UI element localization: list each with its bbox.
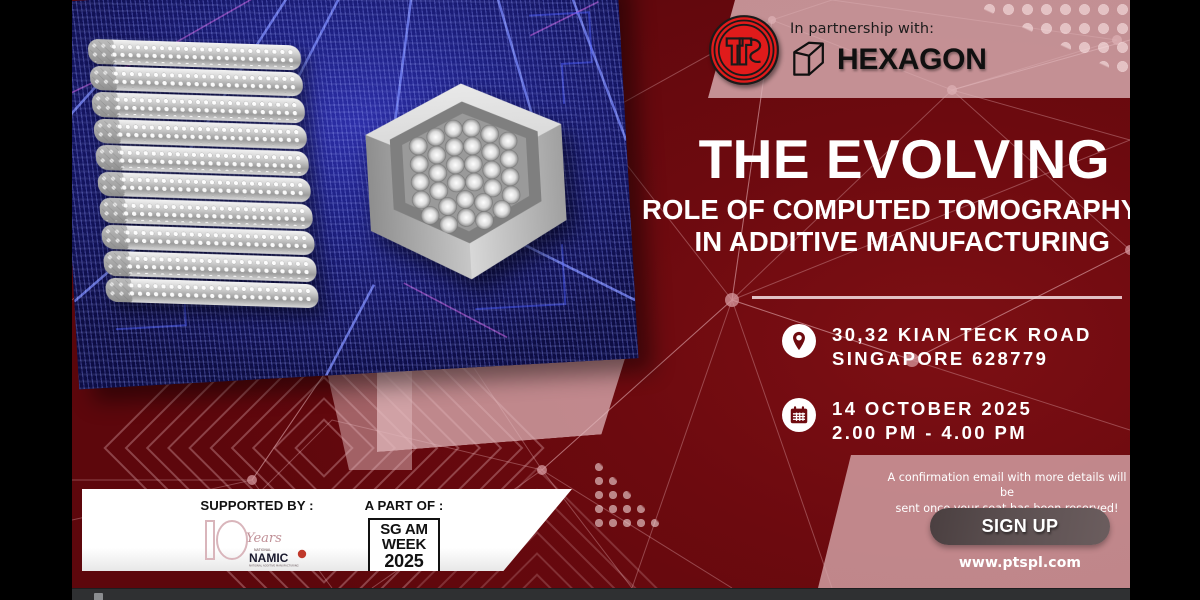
title-divider-rule (752, 296, 1122, 299)
sg-am-week-logo: SG AM WEEK 2025 (368, 518, 440, 574)
a-part-of-group: A PART OF : SG AM WEEK 2025 (348, 498, 460, 574)
sgam-year: 2025 (384, 552, 423, 570)
event-poster: In partnership with: HEXAGON (72, 0, 1130, 588)
pts-logo-icon (708, 14, 780, 86)
viewer-toolbar[interactable] (72, 588, 1130, 600)
sign-up-button[interactable]: SIGN UP (930, 508, 1110, 545)
poster-content-column: In partnership with: HEXAGON (642, 0, 1130, 588)
title-subtitle-line2: IN ADDITIVE MANUFACTURING (642, 226, 1110, 258)
sgam-line1: SG AM (380, 522, 428, 537)
title-subtitle-line1: ROLE OF COMPUTED TOMOGRAPHY (642, 194, 1110, 226)
location-pin-icon (782, 324, 816, 358)
namic-logo-icon: Years NATIONAL NAMIC NATIONAL ADDITIVE M… (198, 515, 316, 569)
supported-by-group: SUPPORTED BY : Years NATIONAL NAMIC (192, 498, 322, 569)
event-location-text: 30,32 KIAN TECK ROAD SINGAPORE 628779 (832, 322, 1092, 372)
hexagon-wordmark: HEXAGON (837, 43, 987, 77)
title-main: THE EVOLVING (642, 133, 1110, 187)
hexagon-lockup: HEXAGON (790, 40, 987, 80)
event-datetime-row: 14 OCTOBER 2025 2.00 PM - 4.00 PM (782, 396, 1130, 446)
location-line-2: SINGAPORE 628779 (832, 347, 1092, 371)
event-location-row: 30,32 KIAN TECK ROAD SINGAPORE 628779 (782, 322, 1130, 372)
hexagon-mark-icon (790, 40, 828, 80)
partner-text-group: In partnership with: HEXAGON (790, 21, 987, 80)
hero-image-3d-prints (72, 0, 638, 389)
poster-title-block: THE EVOLVING ROLE OF COMPUTED TOMOGRAPHY… (642, 133, 1130, 259)
calendar-icon (782, 398, 816, 432)
svg-text:NATIONAL ADDITIVE MANUFACTURIN: NATIONAL ADDITIVE MANUFACTURING (249, 564, 299, 568)
time-line: 2.00 PM - 4.00 PM (832, 421, 1032, 445)
lattice-cube-object (352, 68, 580, 296)
supported-by-label: SUPPORTED BY : (200, 498, 313, 513)
toolbar-button-icon[interactable] (94, 593, 103, 600)
screenshot-viewport: In partnership with: HEXAGON (0, 0, 1200, 600)
signup-note-line1: A confirmation email with more details w… (882, 470, 1130, 501)
website-link[interactable]: www.ptspl.com (930, 555, 1110, 571)
sgam-line2: WEEK (382, 537, 426, 552)
event-details-block: 30,32 KIAN TECK ROAD SINGAPORE 628779 (782, 322, 1130, 470)
sponsor-bar: SUPPORTED BY : Years NATIONAL NAMIC (82, 489, 572, 571)
partnership-bar: In partnership with: HEXAGON (708, 3, 1128, 97)
svg-text:NAMIC: NAMIC (249, 551, 289, 565)
lattice-block-object (87, 39, 320, 325)
date-line: 14 OCTOBER 2025 (832, 397, 1032, 421)
svg-text:Years: Years (246, 531, 282, 546)
event-datetime-text: 14 OCTOBER 2025 2.00 PM - 4.00 PM (832, 396, 1032, 446)
location-line-1: 30,32 KIAN TECK ROAD (832, 323, 1092, 347)
partnership-label: In partnership with: (790, 21, 987, 37)
a-part-of-label: A PART OF : (365, 498, 444, 513)
